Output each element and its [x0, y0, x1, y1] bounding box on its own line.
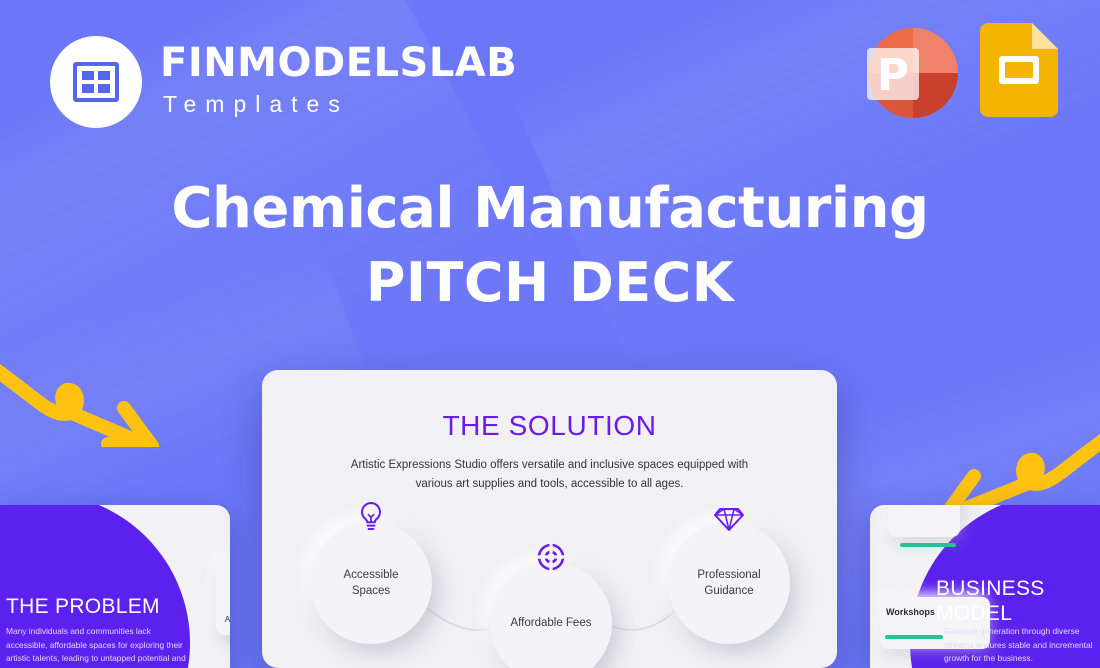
feature-affordable-fees: Affordable Fees	[490, 562, 612, 668]
brand-logo[interactable]: FINMODELSLAB Templates	[50, 36, 517, 128]
feature-accessible-spaces: AccessibleSpaces	[310, 522, 432, 644]
lightbulb-icon	[354, 500, 388, 534]
business-body: Revenue generation through diverse strea…	[944, 625, 1094, 666]
business-bar-lower	[885, 635, 943, 639]
problem-title: THE PROBLEM	[6, 595, 160, 620]
google-slides-icon[interactable]	[980, 23, 1058, 117]
hero-title-line2: PITCH DECK	[0, 253, 1100, 313]
feature-label: ProfessionalGuidance	[697, 567, 760, 599]
business-item-label: Workshops	[886, 607, 935, 617]
business-title: BUSINESSMODEL	[936, 577, 1086, 627]
solution-feature-circles: AccessibleSpaces Affordable Fees Profess…	[262, 500, 837, 668]
page-header: FINMODELSLAB Templates P	[0, 0, 1100, 150]
slide-preview-row: Lack of Accessibility THE PROBLEM Many i…	[0, 370, 1100, 668]
hero-title-line1: Chemical Manufacturing	[0, 178, 1100, 241]
slide-card-solution[interactable]: THE SOLUTION Artistic Expressions Studio…	[262, 370, 837, 668]
format-icon-group: P	[855, 20, 1058, 120]
feature-professional-guidance: ProfessionalGuidance	[668, 522, 790, 644]
mini-card-lack-of-accessibility: Lack of Accessibility	[216, 557, 230, 635]
powerpoint-icon[interactable]: P	[855, 20, 960, 120]
feature-label: Affordable Fees	[511, 615, 592, 631]
slide-card-business-model[interactable]: Workshops BUSINESSMODEL Revenue generati…	[870, 505, 1100, 668]
svg-text:P: P	[877, 50, 909, 101]
solution-body: Artistic Expressions Studio offers versa…	[335, 456, 765, 494]
slide-card-problem[interactable]: Lack of Accessibility THE PROBLEM Many i…	[0, 505, 230, 668]
diamond-icon	[712, 500, 746, 534]
feature-label: AccessibleSpaces	[344, 567, 399, 599]
brand-subtitle: Templates	[160, 89, 517, 120]
business-panel-upper	[888, 505, 960, 537]
mini-card-label: Lack of Accessibility	[216, 601, 230, 626]
solution-title: THE SOLUTION	[262, 410, 837, 442]
business-bar-upper	[900, 543, 956, 547]
brand-name: FINMODELSLAB	[160, 43, 517, 83]
grid-logo-icon	[73, 62, 119, 102]
logo-circle-badge	[50, 36, 142, 128]
problem-body: Many individuals and communities lack ac…	[6, 625, 191, 666]
donut-circle-icon	[534, 540, 568, 574]
hero-title-block: Chemical Manufacturing PITCH DECK	[0, 178, 1100, 313]
